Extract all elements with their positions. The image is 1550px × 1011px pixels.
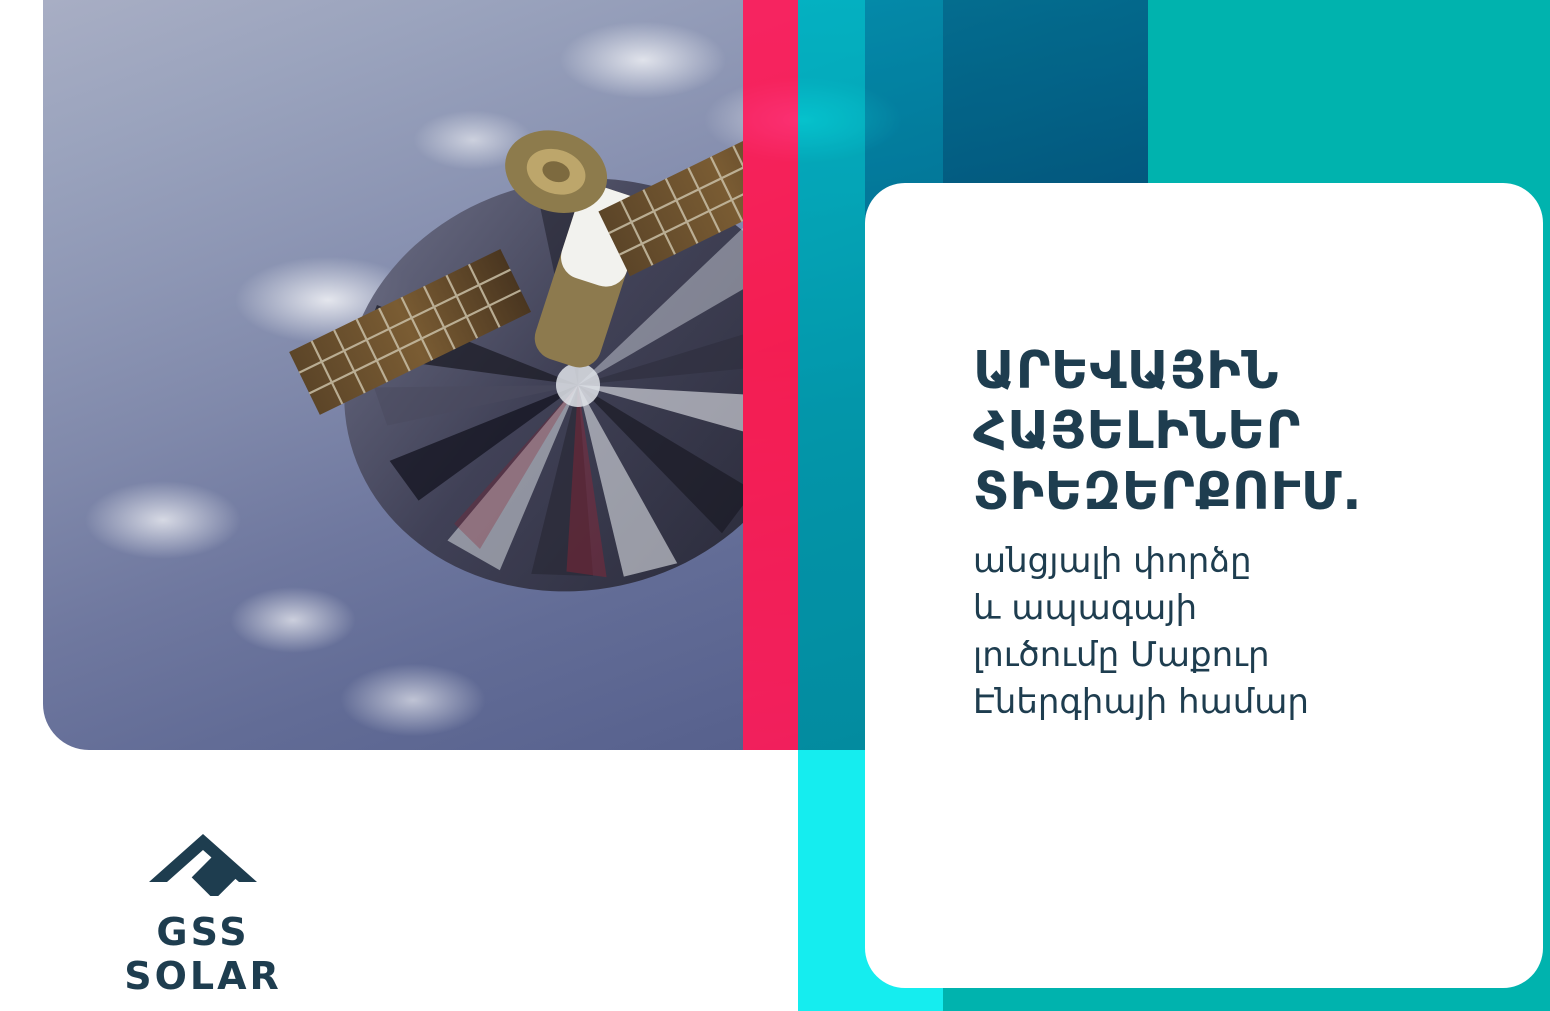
photo-band-cyan — [798, 0, 865, 750]
subcopy-line-1: անցյալի փորձը — [973, 538, 1503, 585]
chevron-diamond-icon — [143, 828, 263, 896]
brand-logo: GSS SOLAR — [78, 828, 328, 998]
message-card: ԱՐԵՎԱՅԻՆ ՀԱՅԵԼԻՆԵՐ ՏԻԵԶԵՐՔՈՒՄ. անցյալի փ… — [865, 183, 1543, 988]
headline: ԱՐԵՎԱՅԻՆ ՀԱՅԵԼԻՆԵՐ ՏԻԵԶԵՐՔՈՒՄ. — [973, 341, 1503, 522]
subcopy: անցյալի փորձը և ապագայի լուծումը Մաքուր … — [973, 538, 1503, 726]
card-content: ԱՐԵՎԱՅԻՆ ՀԱՅԵԼԻՆԵՐ ՏԻԵԶԵՐՔՈՒՄ. անցյալի փ… — [973, 341, 1503, 726]
headline-line-1: ԱՐԵՎԱՅԻՆ — [973, 341, 1503, 401]
logo-wordmark: GSS SOLAR — [78, 910, 328, 998]
satellite-illustration — [278, 55, 743, 675]
headline-line-2: ՀԱՅԵԼԻՆԵՐ — [973, 401, 1503, 461]
photo-band-pink — [743, 0, 798, 750]
subcopy-line-3: լուծումը Մաքուր — [973, 632, 1503, 679]
headline-line-3: ՏԻԵԶԵՐՔՈՒՄ. — [973, 462, 1503, 522]
subcopy-line-4: Էներգիայի համար — [973, 679, 1503, 726]
poster-canvas: ԱՐԵՎԱՅԻՆ ՀԱՅԵԼԻՆԵՐ ՏԻԵԶԵՐՔՈՒՄ. անցյալի փ… — [0, 0, 1550, 1011]
subcopy-line-2: և ապագայի — [973, 585, 1503, 632]
photo-band-natural — [43, 0, 743, 750]
